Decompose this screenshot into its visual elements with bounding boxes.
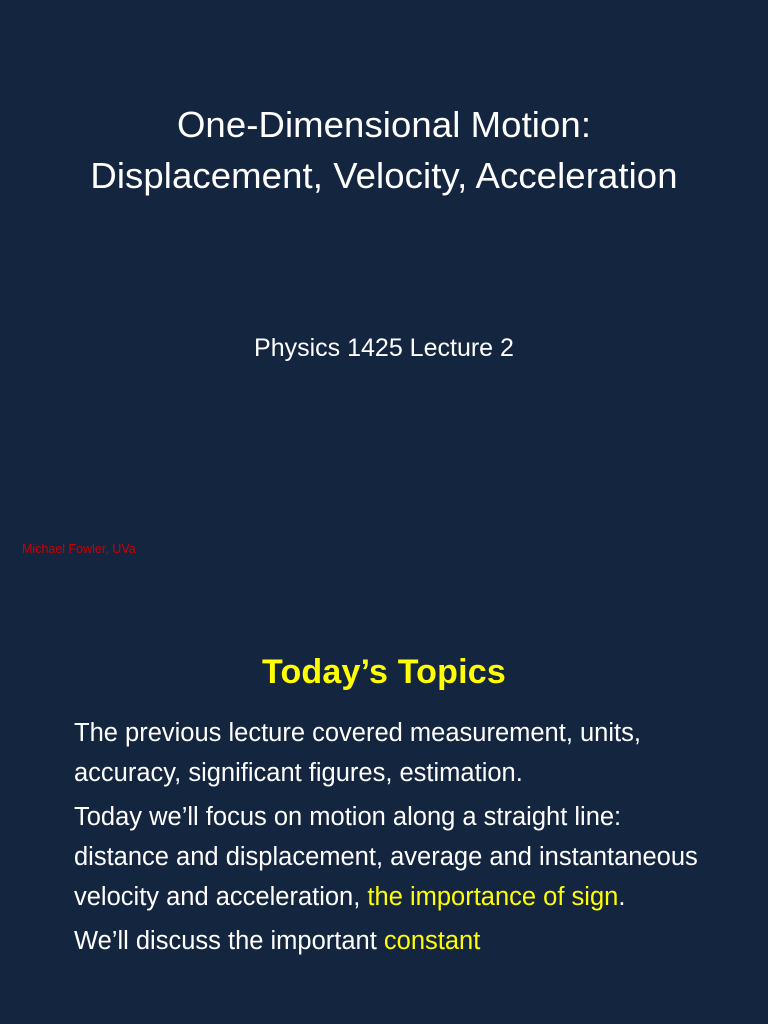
topics-heading: Today’s Topics [0, 650, 768, 695]
topic-paragraph-3-plain-start: We’ll discuss the important [74, 927, 384, 955]
topic-paragraph-3-highlight: constant [384, 927, 480, 955]
slide-topics-page: Today’s Topics The previous lecture cove… [0, 600, 768, 1024]
slide-deck: One-Dimensional Motion: Displacement, Ve… [0, 0, 768, 1024]
author-trailing-dot: . [136, 542, 139, 556]
slide-title-page: One-Dimensional Motion: Displacement, Ve… [0, 0, 768, 600]
author-name: Michael Fowler, UVa [22, 542, 136, 556]
topic-paragraph-3: We’ll discuss the important constant [74, 921, 716, 961]
topic-paragraph-2-plain-end: . [618, 883, 625, 911]
topic-paragraph-2: Today we’ll focus on motion along a stra… [74, 797, 716, 917]
topics-body: The previous lecture covered measurement… [74, 713, 716, 961]
subtitle-text: Physics 1425 Lecture 2 [254, 334, 514, 362]
topic-paragraph-2-highlight: the importance of sign [367, 883, 618, 911]
title-line-1: One-Dimensional Motion: [0, 99, 768, 150]
author-credit: Michael Fowler, UVa. [22, 541, 139, 558]
topic-paragraph-1: The previous lecture covered measurement… [74, 713, 716, 793]
subtitle: Physics 1425 Lecture 2 [0, 331, 768, 365]
page-title: One-Dimensional Motion: Displacement, Ve… [0, 99, 768, 201]
title-line-2: Displacement, Velocity, Acceleration [0, 150, 768, 201]
